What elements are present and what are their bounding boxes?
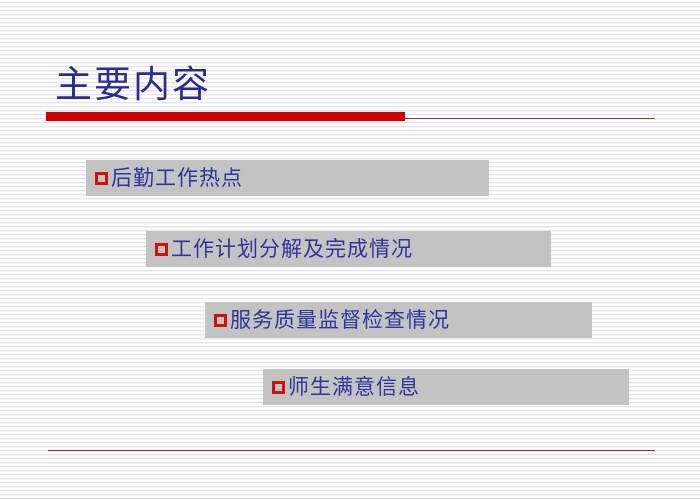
title-underline-accent-bar [46,112,405,121]
agenda-item-3-label: 服务质量监督检查情况 [230,308,450,332]
agenda-item-2[interactable]: 工作计划分解及完成情况 [146,231,551,267]
footer-divider [48,450,655,451]
presentation-slide: 主要内容 后勤工作热点 工作计划分解及完成情况 服务质量监督检查情况 师生满意信… [0,0,700,500]
agenda-item-3[interactable]: 服务质量监督检查情况 [205,302,592,338]
agenda-item-4[interactable]: 师生满意信息 [263,369,629,405]
agenda-item-2-label: 工作计划分解及完成情况 [171,237,413,261]
agenda-item-1[interactable]: 后勤工作热点 [86,160,489,196]
hollow-square-bullet-icon [214,314,227,327]
page-title: 主要内容 [55,62,211,108]
agenda-item-4-label: 师生满意信息 [288,375,420,399]
hollow-square-bullet-icon [272,381,285,394]
agenda-item-1-label: 后勤工作热点 [111,166,243,190]
hollow-square-bullet-icon [95,172,108,185]
hollow-square-bullet-icon [155,243,168,256]
